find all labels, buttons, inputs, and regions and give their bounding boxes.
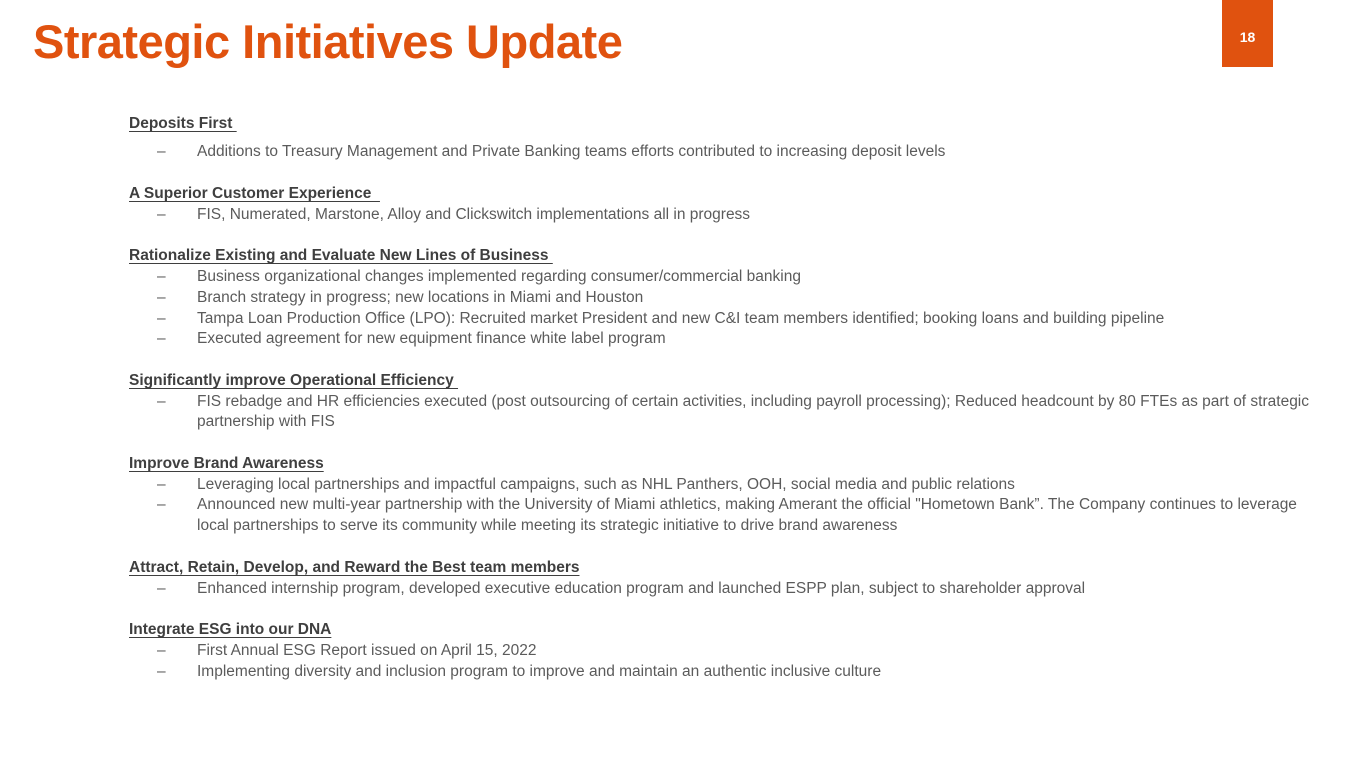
bullet-list: –First Annual ESG Report issued on April… — [129, 641, 1329, 683]
bullet-text: FIS, Numerated, Marstone, Alloy and Clic… — [197, 206, 750, 223]
section-spacer — [129, 433, 1329, 453]
section-heading: Significantly improve Operational Effici… — [129, 370, 1329, 391]
dash-bullet-icon: – — [157, 579, 166, 600]
bullet-text: Executed agreement for new equipment fin… — [197, 330, 666, 347]
section: Integrate ESG into our DNA–First Annual … — [129, 619, 1329, 682]
bullet-list: –Leveraging local partnerships and impac… — [129, 475, 1329, 538]
bullet-list: –Enhanced internship program, developed … — [129, 579, 1329, 600]
dash-bullet-icon: – — [157, 267, 166, 288]
section: Significantly improve Operational Effici… — [129, 370, 1329, 433]
bullet-item: –Announced new multi-year partnership wi… — [129, 495, 1329, 537]
section-spacer — [129, 163, 1329, 183]
bullet-text: Tampa Loan Production Office (LPO): Recr… — [197, 310, 1164, 327]
page-title: Strategic Initiatives Update — [33, 14, 622, 70]
slide-body: Deposits First –Additions to Treasury Ma… — [129, 113, 1329, 682]
dash-bullet-icon: – — [157, 329, 166, 350]
section-heading: Deposits First — [129, 113, 1329, 134]
dash-bullet-icon: – — [157, 309, 166, 330]
bullet-text: Leveraging local partnerships and impact… — [197, 476, 1015, 493]
bullet-text: Branch strategy in progress; new locatio… — [197, 289, 643, 306]
section-heading: Integrate ESG into our DNA — [129, 619, 1329, 640]
dash-bullet-icon: – — [157, 392, 166, 413]
dash-bullet-icon: – — [157, 475, 166, 496]
bullet-item: –Additions to Treasury Management and Pr… — [129, 142, 1329, 163]
section-spacer — [129, 350, 1329, 370]
bullet-text: Implementing diversity and inclusion pro… — [197, 663, 881, 680]
bullet-list: –Additions to Treasury Management and Pr… — [129, 142, 1329, 163]
section-spacer — [129, 225, 1329, 245]
heading-bullet-spacer — [129, 134, 1329, 142]
dash-bullet-icon: – — [157, 205, 166, 226]
section: Improve Brand Awareness–Leveraging local… — [129, 453, 1329, 537]
section: Rationalize Existing and Evaluate New Li… — [129, 245, 1329, 350]
bullet-list: –FIS, Numerated, Marstone, Alloy and Cli… — [129, 205, 1329, 226]
bullet-item: –First Annual ESG Report issued on April… — [129, 641, 1329, 662]
bullet-text: Enhanced internship program, developed e… — [197, 580, 1085, 597]
bullet-item: –Tampa Loan Production Office (LPO): Rec… — [129, 309, 1329, 330]
section-spacer — [129, 599, 1329, 619]
bullet-list: –FIS rebadge and HR efficiencies execute… — [129, 392, 1329, 434]
section: A Superior Customer Experience –FIS, Num… — [129, 183, 1329, 225]
section-heading: A Superior Customer Experience — [129, 183, 1329, 204]
bullet-item: –Executed agreement for new equipment fi… — [129, 329, 1329, 350]
section: Attract, Retain, Develop, and Reward the… — [129, 557, 1329, 599]
bullet-text: Business organizational changes implemen… — [197, 268, 801, 285]
bullet-item: –Enhanced internship program, developed … — [129, 579, 1329, 600]
bullet-item: –Leveraging local partnerships and impac… — [129, 475, 1329, 496]
section-spacer — [129, 537, 1329, 557]
bullet-item: –Branch strategy in progress; new locati… — [129, 288, 1329, 309]
bullet-item: –FIS rebadge and HR efficiencies execute… — [129, 392, 1329, 434]
bullet-item: –Implementing diversity and inclusion pr… — [129, 662, 1329, 683]
section-heading: Improve Brand Awareness — [129, 453, 1329, 474]
bullet-text: FIS rebadge and HR efficiencies executed… — [197, 393, 1309, 431]
bullet-text: Announced new multi-year partnership wit… — [197, 496, 1297, 534]
bullet-item: –Business organizational changes impleme… — [129, 267, 1329, 288]
bullet-list: –Business organizational changes impleme… — [129, 267, 1329, 350]
dash-bullet-icon: – — [157, 495, 166, 516]
bullet-text: Additions to Treasury Management and Pri… — [197, 143, 945, 160]
dash-bullet-icon: – — [157, 142, 166, 163]
dash-bullet-icon: – — [157, 288, 166, 309]
section-heading: Attract, Retain, Develop, and Reward the… — [129, 557, 1329, 578]
section: Deposits First –Additions to Treasury Ma… — [129, 113, 1329, 163]
dash-bullet-icon: – — [157, 662, 166, 683]
bullet-item: –FIS, Numerated, Marstone, Alloy and Cli… — [129, 205, 1329, 226]
bullet-text: First Annual ESG Report issued on April … — [197, 642, 536, 659]
section-heading: Rationalize Existing and Evaluate New Li… — [129, 245, 1329, 266]
dash-bullet-icon: – — [157, 641, 166, 662]
page-number-badge: 18 — [1222, 0, 1273, 67]
